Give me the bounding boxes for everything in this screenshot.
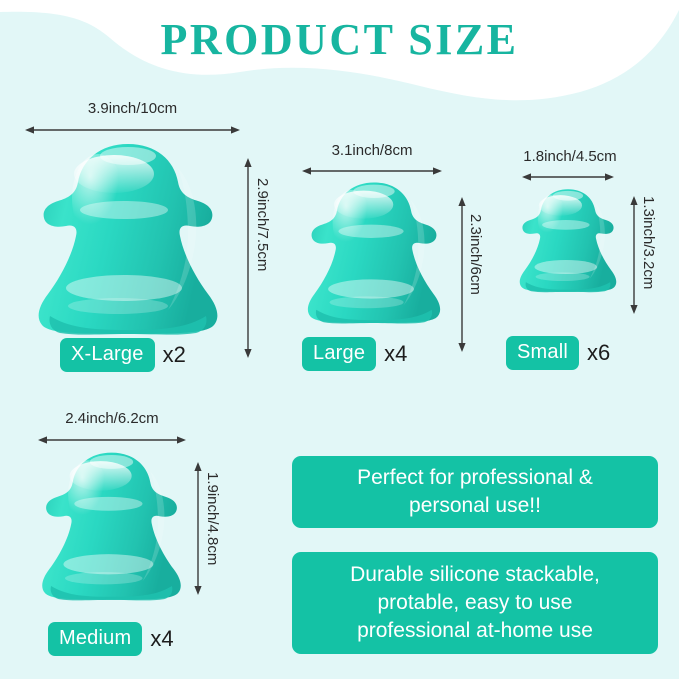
size-badge-small[interactable]: Small	[506, 336, 579, 370]
height-dimension-label-medium: 1.9inch/4.8cm	[204, 472, 220, 565]
product-size-infographic: PRODUCT SIZE 3.9inch/10cm	[0, 0, 679, 679]
size-badge-medium[interactable]: Medium	[48, 622, 142, 656]
width-dimension-arrow-small	[522, 171, 614, 183]
quantity-label-small: x6	[587, 340, 610, 366]
height-dimension-arrow-x-large	[242, 158, 254, 358]
badge-row-x-large: X-Large x2	[60, 338, 186, 372]
cup-illustration-large	[300, 178, 448, 326]
product-cell-medium: 2.4inch/6.2cm	[20, 410, 250, 665]
height-dimension-label-x-large: 2.9inch/7.5cm	[254, 178, 270, 271]
quantity-label-large: x4	[384, 341, 407, 367]
quantity-label-medium: x4	[150, 626, 173, 652]
width-dimension-arrow-large	[302, 165, 442, 177]
size-badge-large[interactable]: Large	[302, 337, 376, 371]
cup-illustration-medium	[34, 448, 189, 603]
width-dimension-label-small: 1.8inch/4.5cm	[500, 148, 640, 166]
cup-illustration-small	[514, 186, 622, 294]
height-dimension-label-large: 2.3inch/6cm	[467, 214, 483, 295]
page-title: PRODUCT SIZE	[0, 14, 679, 66]
width-dimension-label-medium: 2.4inch/6.2cm	[32, 410, 192, 428]
width-dimension-arrow-medium	[38, 434, 186, 446]
width-dimension-label-x-large: 3.9inch/10cm	[25, 100, 240, 118]
quantity-label-x-large: x2	[163, 342, 186, 368]
badge-row-medium: Medium x4	[48, 622, 174, 656]
size-badge-x-large[interactable]: X-Large	[60, 338, 155, 372]
product-cell-small: 1.8inch/4.5cm	[500, 148, 670, 378]
width-dimension-label-large: 3.1inch/8cm	[292, 142, 452, 160]
height-dimension-label-small: 1.3inch/3.2cm	[640, 196, 656, 289]
width-dimension-arrow-x-large	[25, 124, 240, 136]
feature-box-professional-use: Perfect for professional & personal use!…	[292, 456, 658, 528]
badge-row-small: Small x6	[506, 336, 610, 370]
product-cell-large: 3.1inch/8cm	[288, 142, 503, 382]
height-dimension-arrow-medium	[192, 462, 204, 595]
cup-illustration-x-large	[28, 138, 228, 338]
height-dimension-arrow-small	[628, 196, 640, 314]
badge-row-large: Large x4	[302, 337, 407, 371]
product-cell-x-large: 3.9inch/10cm	[20, 100, 270, 385]
feature-box-durable-silicone: Durable silicone stackable, protable, ea…	[292, 552, 658, 654]
